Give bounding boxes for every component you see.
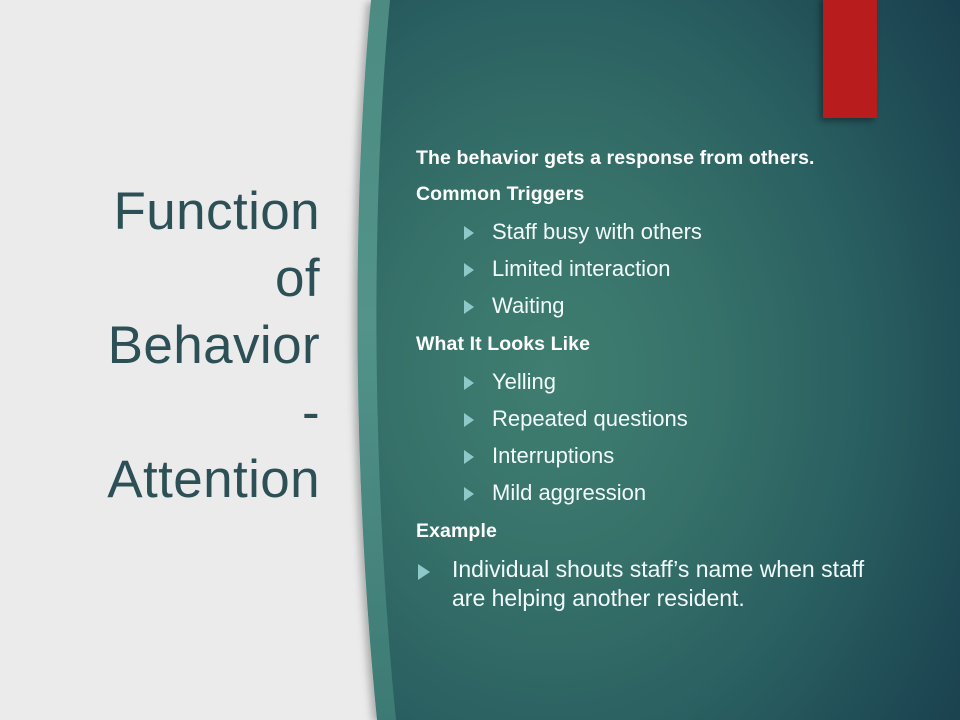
title-line-4: - — [20, 379, 320, 446]
red-accent-bar — [823, 0, 877, 118]
triangle-bullet-icon — [418, 564, 430, 580]
list-item: Mild aggression — [416, 479, 886, 507]
title-line-2: of — [20, 245, 320, 312]
list-item: Interruptions — [416, 442, 886, 470]
list-item: Limited interaction — [416, 255, 886, 283]
title-line-5: Attention — [20, 446, 320, 513]
list-item: Repeated questions — [416, 405, 886, 433]
intro-statement: The behavior gets a response from others… — [416, 146, 886, 171]
presentation-slide: Function of Behavior - Attention The beh… — [0, 0, 960, 720]
triangle-bullet-icon — [464, 226, 474, 240]
list-item-label: Staff busy with others — [492, 218, 702, 246]
triangle-bullet-icon — [464, 300, 474, 314]
page-title: Function of Behavior - Attention — [20, 178, 320, 513]
list-item: Staff busy with others — [416, 218, 886, 246]
triangle-bullet-icon — [464, 376, 474, 390]
triangle-bullet-icon — [464, 413, 474, 427]
title-line-3: Behavior — [20, 312, 320, 379]
list-item: Waiting — [416, 292, 886, 320]
title-line-1: Function — [20, 178, 320, 245]
list-item-label: Individual shouts staff’s name when staf… — [452, 555, 886, 613]
list-item-label: Interruptions — [492, 442, 614, 470]
list-item: Individual shouts staff’s name when staf… — [416, 555, 886, 613]
triangle-bullet-icon — [464, 487, 474, 501]
list-item-label: Yelling — [492, 368, 556, 396]
section-heading-common-triggers: Common Triggers — [416, 182, 886, 207]
triangle-bullet-icon — [464, 263, 474, 277]
list-item-label: Limited interaction — [492, 255, 671, 283]
list-item: Yelling — [416, 368, 886, 396]
section-heading-what-it-looks-like: What It Looks Like — [416, 332, 886, 357]
triangle-bullet-icon — [464, 450, 474, 464]
list-item-label: Repeated questions — [492, 405, 688, 433]
list-item-label: Mild aggression — [492, 479, 646, 507]
content-body: The behavior gets a response from others… — [416, 146, 886, 622]
list-item-label: Waiting — [492, 292, 565, 320]
section-heading-example: Example — [416, 519, 886, 544]
